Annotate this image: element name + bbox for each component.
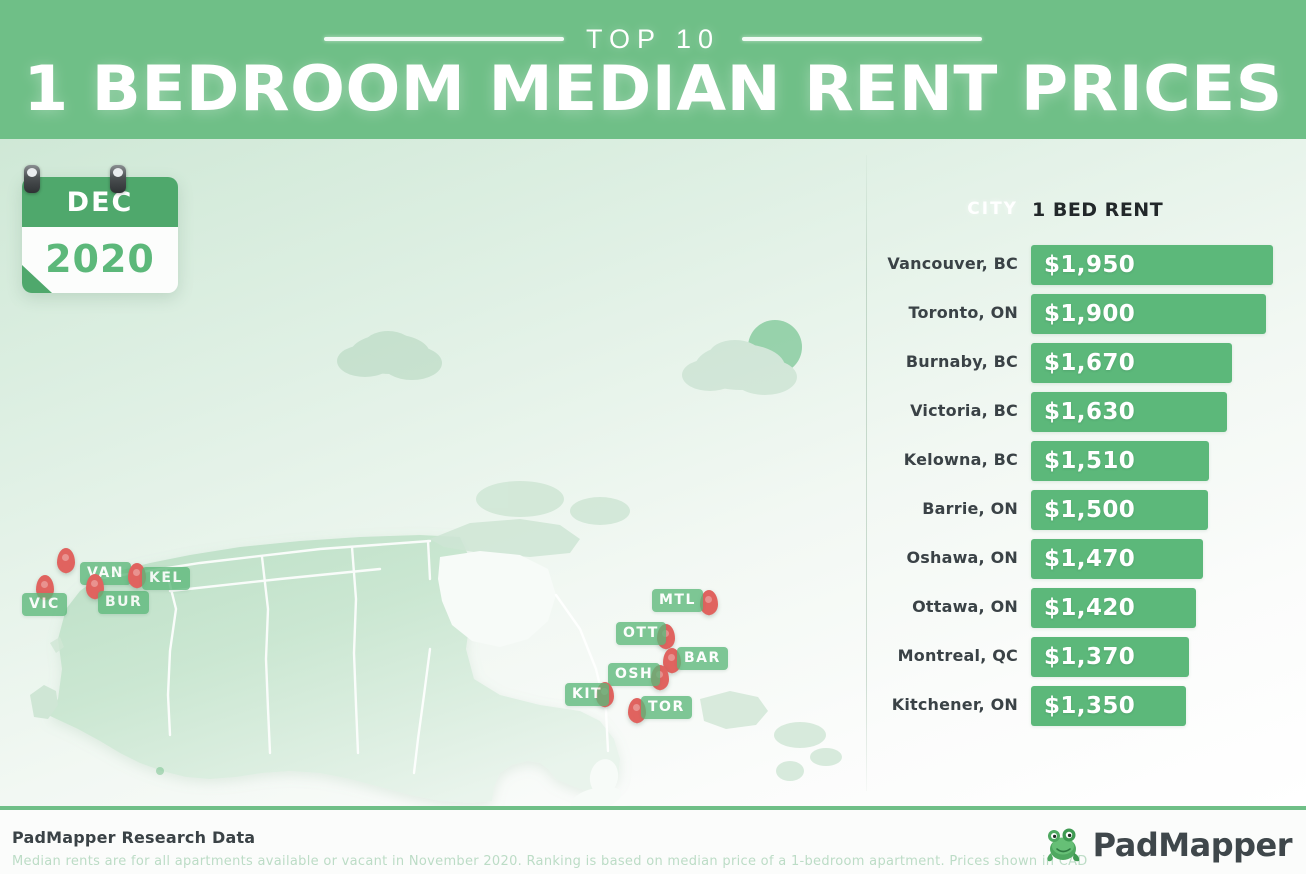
calendar-month-band: DEC <box>22 177 178 227</box>
table-row: Oshawa, ON$1,470 <box>866 537 1306 586</box>
header-banner: TOP 10 1 BEDROOM MEDIAN RENT PRICES <box>0 0 1306 139</box>
row-value-label: $1,370 <box>1044 644 1135 670</box>
calendar-ring-left-icon <box>24 165 40 193</box>
row-city-label: Victoria, BC <box>866 401 1018 420</box>
row-city-label: Montreal, QC <box>866 646 1018 665</box>
footer: PadMapper Research Data Median rents are… <box>0 806 1306 874</box>
row-value-label: $1,900 <box>1044 301 1135 327</box>
table-row: Victoria, BC$1,630 <box>866 390 1306 439</box>
map-label-vic[interactable]: VIC <box>22 593 67 616</box>
column-header-rent: 1 BED RENT <box>1032 199 1163 221</box>
row-city-label: Kelowna, BC <box>866 450 1018 469</box>
row-city-label: Oshawa, ON <box>866 548 1018 567</box>
table-row: Vancouver, BC$1,950 <box>866 243 1306 292</box>
row-value-label: $1,350 <box>1044 693 1135 719</box>
table-row: Kelowna, BC$1,510 <box>866 439 1306 488</box>
table-header: CITY 1 BED RENT <box>866 199 1306 229</box>
map-label-mtl[interactable]: MTL <box>652 589 703 612</box>
eyebrow-rule-left <box>324 37 564 41</box>
cloud-left <box>337 331 442 380</box>
infographic-page: TOP 10 1 BEDROOM MEDIAN RENT PRICES <box>0 0 1306 874</box>
calendar-year: 2020 <box>45 237 155 281</box>
column-header-city: CITY <box>890 199 1018 219</box>
row-city-label: Vancouver, BC <box>866 254 1018 273</box>
row-city-label: Toronto, ON <box>866 303 1018 322</box>
row-value-label: $1,420 <box>1044 595 1135 621</box>
table-row: Toronto, ON$1,900 <box>866 292 1306 341</box>
footer-disclaimer: Median rents are for all apartments avai… <box>12 854 1088 869</box>
row-value-label: $1,670 <box>1044 350 1135 376</box>
footer-title: PadMapper Research Data <box>12 828 255 847</box>
map-label-kel[interactable]: KEL <box>142 567 190 590</box>
body-area: DEC 2020 VANVICBURKELMTLOTTBAROSHKITTOR … <box>0 139 1306 806</box>
rent-table-panel: CITY 1 BED RENT Vancouver, BC$1,950Toron… <box>866 139 1306 806</box>
table-row: Barrie, ON$1,500 <box>866 488 1306 537</box>
map-pin-van[interactable] <box>57 548 75 573</box>
table-rows: Vancouver, BC$1,950Toronto, ON$1,900Burn… <box>866 243 1306 733</box>
row-city-label: Kitchener, ON <box>866 695 1018 714</box>
row-city-label: Ottawa, ON <box>866 597 1018 616</box>
row-value-label: $1,950 <box>1044 252 1135 278</box>
eyebrow-label: TOP 10 <box>586 24 720 55</box>
row-value-label: $1,470 <box>1044 546 1135 572</box>
eyebrow-rule-right <box>742 37 982 41</box>
table-row: Ottawa, ON$1,420 <box>866 586 1306 635</box>
frog-logo-icon <box>1041 825 1085 865</box>
row-value-label: $1,510 <box>1044 448 1135 474</box>
row-city-label: Barrie, ON <box>866 499 1018 518</box>
header-eyebrow: TOP 10 <box>0 24 1306 54</box>
map-label-ott[interactable]: OTT <box>616 622 666 645</box>
map-label-bur[interactable]: BUR <box>98 591 149 614</box>
map-label-osh[interactable]: OSH <box>608 663 660 686</box>
calendar-year-band: 2020 <box>22 227 178 293</box>
page-title: 1 BEDROOM MEDIAN RENT PRICES <box>0 52 1306 125</box>
logo-text: PadMapper <box>1093 826 1292 864</box>
table-row: Montreal, QC$1,370 <box>866 635 1306 684</box>
row-city-label: Burnaby, BC <box>866 352 1018 371</box>
map-panel: DEC 2020 VANVICBURKELMTLOTTBAROSHKITTOR <box>0 139 866 806</box>
map-label-kit[interactable]: KIT <box>565 683 609 706</box>
table-row: Burnaby, BC$1,670 <box>866 341 1306 390</box>
calendar-ring-right-icon <box>110 165 126 193</box>
map-label-tor[interactable]: TOR <box>641 696 692 719</box>
padmapper-logo[interactable]: PadMapper <box>1041 824 1292 866</box>
cloud-right <box>682 320 802 395</box>
row-value-label: $1,500 <box>1044 497 1135 523</box>
table-row: Kitchener, ON$1,350 <box>866 684 1306 733</box>
row-value-label: $1,630 <box>1044 399 1135 425</box>
date-badge: DEC 2020 <box>22 177 178 293</box>
map-label-bar[interactable]: BAR <box>677 647 728 670</box>
